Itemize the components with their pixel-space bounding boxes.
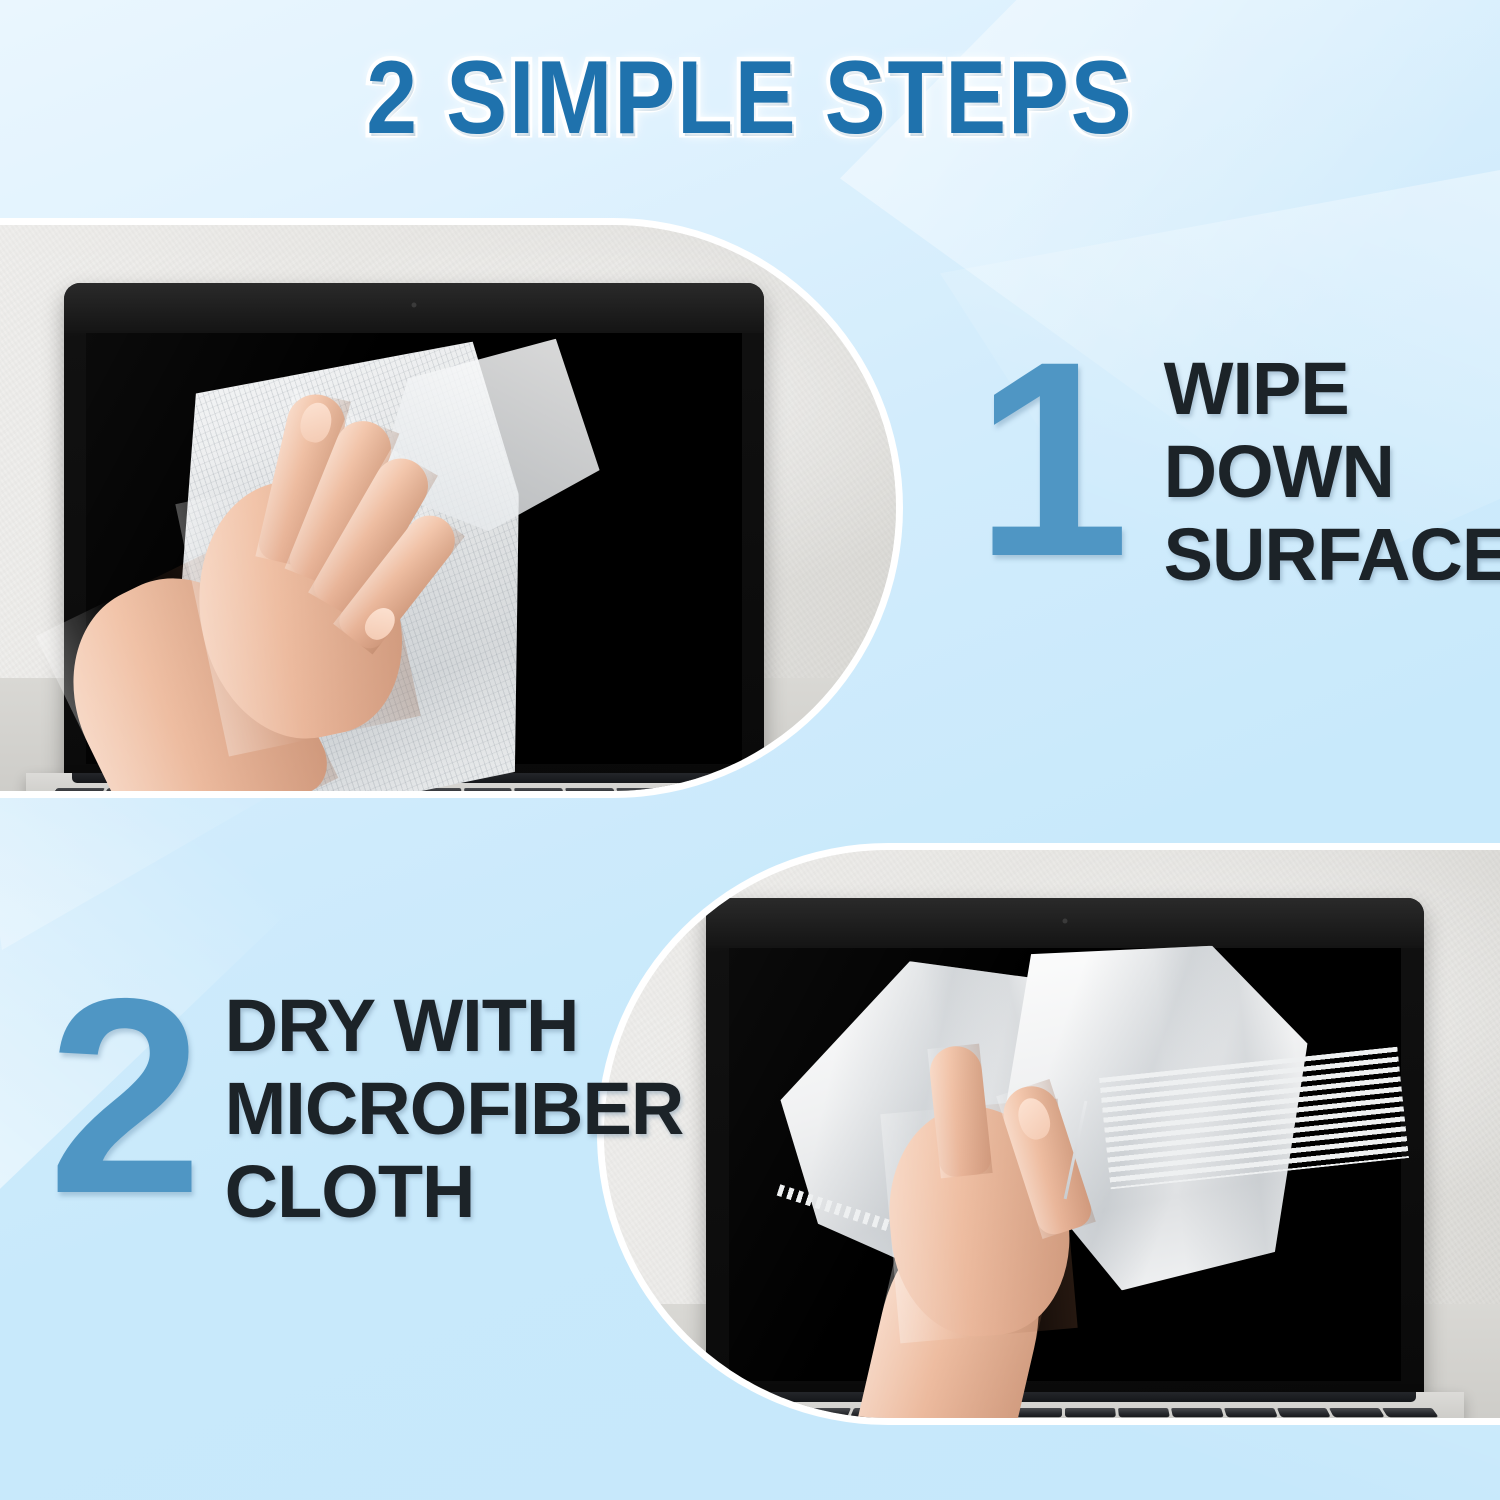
key bbox=[1118, 1408, 1170, 1418]
step-2-photo bbox=[604, 850, 1500, 1418]
key bbox=[616, 788, 668, 791]
step-2-caption: 2 DRY WITH MICROFIBER CLOTH bbox=[48, 985, 683, 1234]
key bbox=[1329, 1408, 1385, 1418]
key bbox=[565, 788, 616, 791]
step-1-line-1: WIPE bbox=[1164, 348, 1500, 431]
webcam-icon bbox=[412, 303, 417, 308]
key bbox=[689, 1408, 746, 1418]
page-title: 2 SIMPLE STEPS bbox=[0, 46, 1500, 150]
laptop-keyboard bbox=[660, 1408, 1468, 1418]
laptop-top-bezel bbox=[64, 283, 764, 333]
step-1-line-2: DOWN bbox=[1164, 431, 1500, 514]
key bbox=[1382, 1408, 1439, 1418]
step-1-lines: WIPE DOWN SURFACE bbox=[1164, 348, 1500, 597]
key bbox=[1277, 1408, 1332, 1418]
key bbox=[1065, 1408, 1116, 1418]
step-1-caption: 1 WIPE DOWN SURFACE bbox=[975, 348, 1500, 597]
laptop-base bbox=[664, 1392, 1464, 1418]
key bbox=[463, 788, 513, 791]
webcam-icon bbox=[1063, 918, 1068, 923]
key bbox=[717, 788, 771, 791]
step-2-line-1: DRY WITH bbox=[225, 985, 684, 1068]
step-2-line-3: CLOTH bbox=[225, 1151, 684, 1234]
key bbox=[667, 788, 720, 791]
key bbox=[1224, 1408, 1278, 1418]
laptop-top-bezel bbox=[706, 898, 1424, 948]
key bbox=[1171, 1408, 1224, 1418]
laptop-hinge bbox=[712, 1392, 1416, 1402]
key bbox=[51, 788, 105, 791]
key bbox=[743, 1408, 799, 1418]
step-2-lines: DRY WITH MICROFIBER CLOTH bbox=[225, 985, 684, 1234]
key bbox=[514, 788, 564, 791]
page-title-text: 2 SIMPLE STEPS bbox=[366, 46, 1133, 150]
keyboard-row bbox=[689, 1408, 1439, 1418]
step-1-number: 1 bbox=[975, 348, 1130, 570]
step-2-number: 2 bbox=[48, 985, 203, 1207]
step-2-line-2: MICROFIBER bbox=[225, 1068, 684, 1151]
key bbox=[797, 1408, 852, 1418]
step-1-photo bbox=[0, 225, 896, 791]
step-1-line-3: SURFACE bbox=[1164, 514, 1500, 597]
